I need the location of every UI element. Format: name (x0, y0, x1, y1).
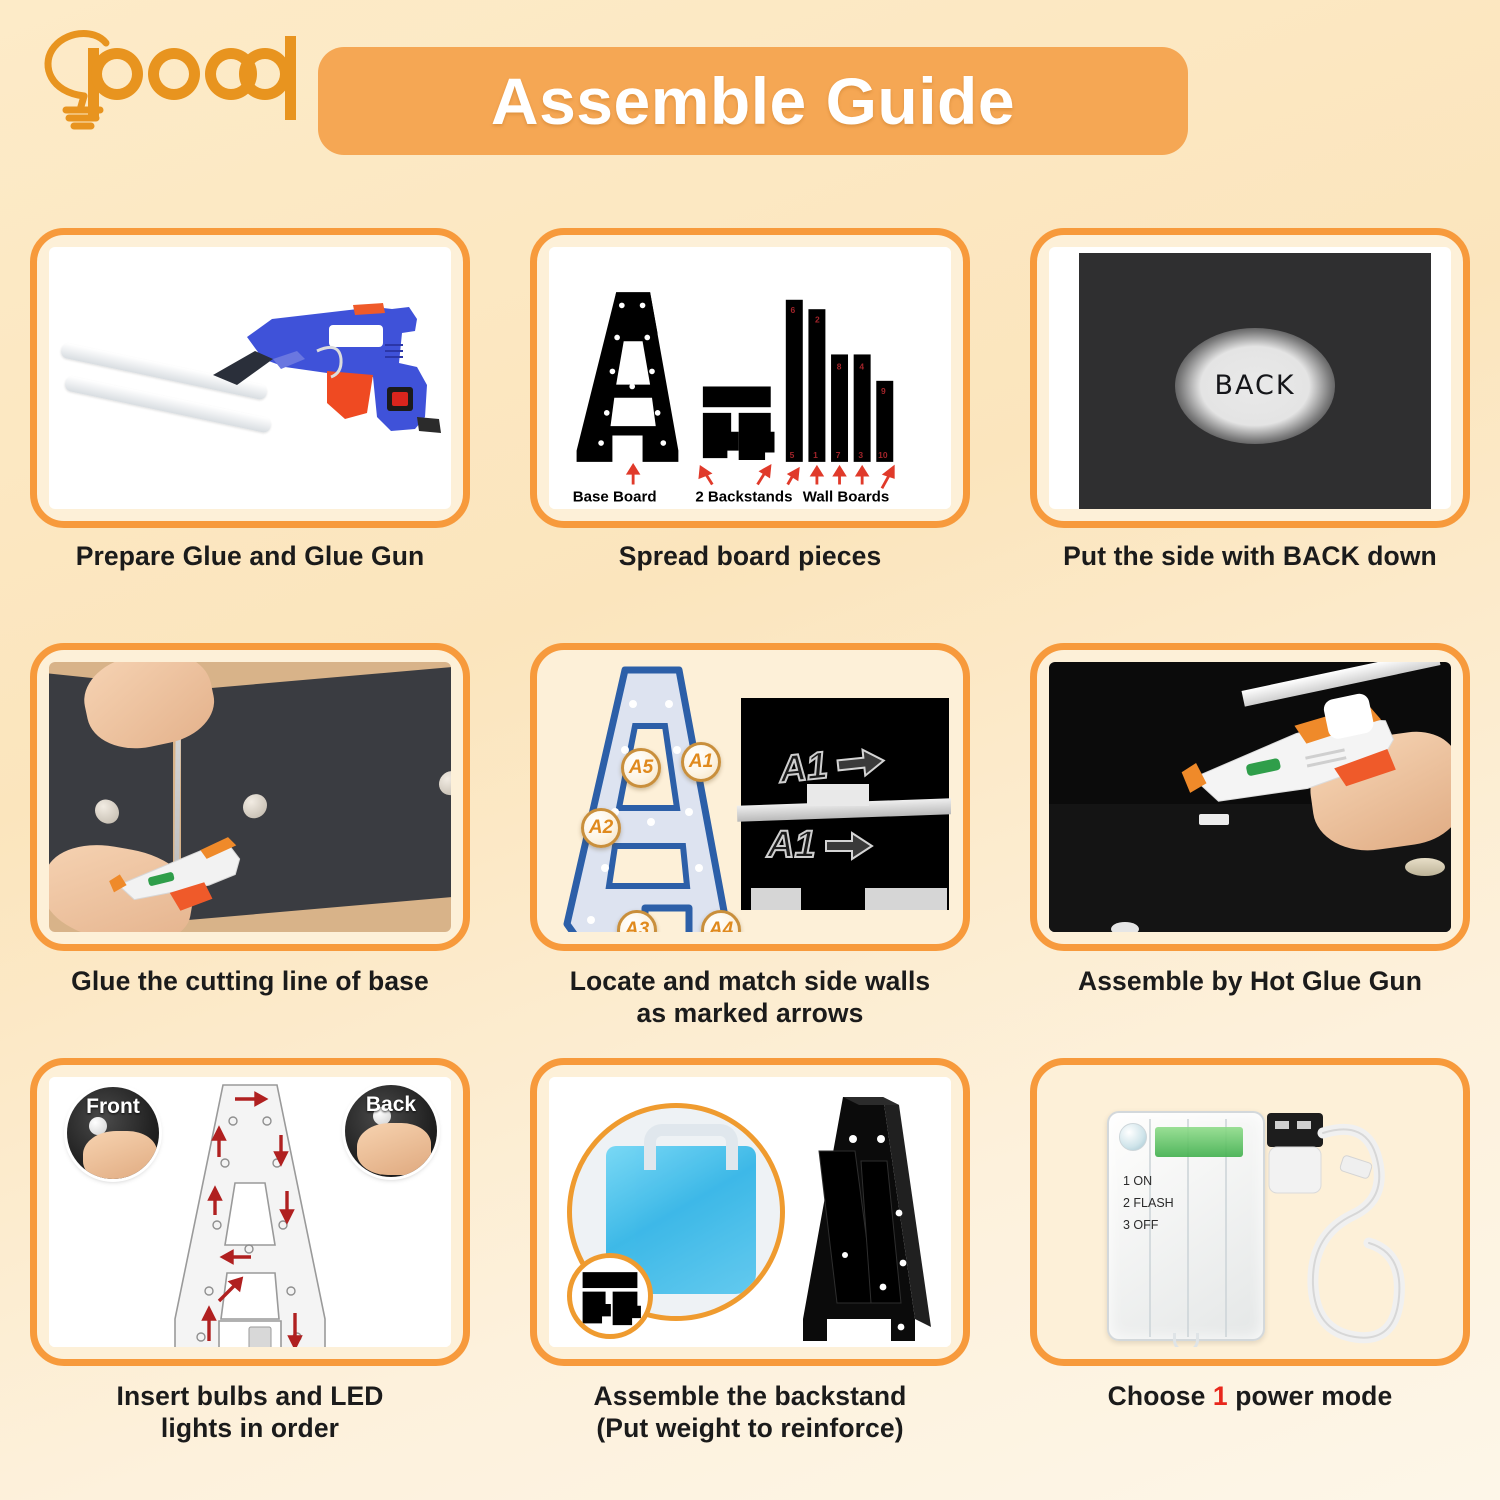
hand-icon (357, 1123, 431, 1175)
step-7-panel: Front Back (30, 1058, 470, 1366)
step-8-caption-line2: (Put weight to reinforce) (500, 1412, 1000, 1444)
step-9-caption-highlight: 1 (1213, 1381, 1228, 1411)
glue-gun-photo (49, 247, 451, 509)
inset-label-a1-top: A1 (777, 745, 830, 793)
step-card-8: Assemble the backstand (Put weight to re… (500, 1040, 1000, 1460)
step-9-caption: Choose 1 power mode (1000, 1380, 1500, 1412)
right-arrow-icon (834, 745, 887, 780)
power-mode-3: 3 OFF (1123, 1215, 1174, 1237)
step-card-1: Prepare Glue and Glue Gun (0, 210, 500, 625)
back-label: BACK (1214, 370, 1295, 401)
board-pieces-diagram: 6 2 8 4 9 5 1 7 3 10 (549, 247, 951, 509)
back-label: Back (366, 1093, 416, 1117)
right-arrow-icon (824, 831, 874, 861)
side-wall-markers-diagram: A1 A2 A3 A4 A5 A1 (549, 662, 951, 932)
magnet-icon (243, 793, 267, 819)
step-card-4: Glue the cutting line of base (0, 625, 500, 1040)
wall-board-number: 8 (837, 362, 842, 372)
wall-board-number: 1 (813, 450, 818, 460)
backstand-shapes (703, 386, 775, 460)
power-mode-1: 1 ON (1123, 1171, 1174, 1193)
step-4-panel (30, 643, 470, 951)
inset-arrow-row-bottom: A1 (767, 824, 874, 867)
step-card-2: 6 2 8 4 9 5 1 7 3 10 (500, 210, 1000, 625)
usb-cable-icon (1245, 1107, 1425, 1347)
backstand-piece-icon (572, 1258, 648, 1334)
hot-glue-assembly-photo (1049, 662, 1451, 932)
step-5-caption-line1: Locate and match side walls (570, 966, 931, 996)
wall-board-number: 9 (881, 386, 886, 396)
step-6-caption: Assemble by Hot Glue Gun (1000, 965, 1500, 997)
page-header: Assemble Guide (0, 0, 1500, 200)
step-7-caption-line1: Insert bulbs and LED (116, 1381, 383, 1411)
power-button[interactable] (1119, 1123, 1147, 1151)
step-5-caption: Locate and match side walls as marked ar… (500, 965, 1000, 1030)
hanging-loop (1173, 1333, 1199, 1347)
wall-boards-label: Wall Boards (803, 488, 889, 505)
step-card-6: Assemble by Hot Glue Gun (1000, 625, 1500, 1040)
step-2-panel: 6 2 8 4 9 5 1 7 3 10 (530, 228, 970, 528)
brand-logo (22, 18, 302, 136)
side-wall-arrow-inset: A1 A1 (741, 698, 949, 910)
step-5-caption-line2: as marked arrows (500, 997, 1000, 1029)
step-3-panel: BACK (1030, 228, 1470, 528)
front-label: Front (86, 1095, 140, 1119)
spotlight-glow: BACK (1175, 328, 1335, 444)
bulb-order-diagram: Front Back (49, 1077, 451, 1347)
steps-grid: Prepare Glue and Glue Gun (0, 210, 1500, 1495)
magnet-icon (95, 798, 119, 825)
backstand-piece-inset (567, 1253, 653, 1339)
hand-icon (83, 1131, 157, 1179)
step-card-3: BACK Put the side with BACK down (1000, 210, 1500, 625)
wall-board-number: 10 (878, 450, 888, 460)
letter-a-shape (553, 662, 743, 932)
step-4-caption: Glue the cutting line of base (0, 965, 500, 997)
marker-a1: A1 (681, 742, 721, 782)
marker-a5: A5 (621, 748, 661, 788)
power-mode-list: 1 ON 2 FLASH 3 OFF (1123, 1171, 1174, 1237)
wall-board-number: 2 (815, 314, 820, 324)
magnet-icon (439, 770, 451, 796)
back-inset-photo: Back (345, 1085, 437, 1177)
base-board-label: Base Board (573, 488, 657, 505)
pointer-arrows (628, 466, 893, 489)
wall-board-number: 4 (859, 362, 864, 372)
step-3-caption: Put the side with BACK down (1000, 540, 1500, 572)
inset-label-a1-bottom: A1 (767, 824, 816, 867)
gluing-base-photo (49, 662, 451, 932)
step-card-5: A1 A2 A3 A4 A5 A1 (500, 625, 1000, 1040)
dark-board: BACK (1079, 253, 1431, 509)
step-8-caption: Assemble the backstand (Put weight to re… (500, 1380, 1000, 1445)
battery-box: 1 ON 2 FLASH 3 OFF (1107, 1111, 1265, 1341)
wall-board-number: 5 (790, 450, 795, 460)
front-inset-photo: Front (67, 1087, 159, 1179)
step-9-panel: 1 ON 2 FLASH 3 OFF (1030, 1058, 1470, 1366)
marker-a2: A2 (581, 808, 621, 848)
wall-board-number: 7 (836, 450, 841, 460)
glue-gun-icon (177, 267, 447, 457)
assembled-backstand-3d (779, 1091, 937, 1347)
wall-foot-notch (801, 876, 865, 910)
power-mode-2: 2 FLASH (1123, 1193, 1174, 1215)
step-6-panel (1030, 643, 1470, 951)
step-card-9: 1 ON 2 FLASH 3 OFF (1000, 1040, 1500, 1460)
power-box-photo: 1 ON 2 FLASH 3 OFF (1049, 1077, 1451, 1347)
step-2-caption: Spread board pieces (500, 540, 1000, 572)
base-board-shape (577, 292, 679, 462)
wall-board-number: 3 (858, 450, 863, 460)
step-5-panel: A1 A2 A3 A4 A5 A1 (530, 643, 970, 951)
backstands-label: 2 Backstands (695, 488, 792, 505)
pcb-strip (1155, 1127, 1243, 1157)
magnet-icon (1111, 922, 1139, 932)
page-title-banner: Assemble Guide (318, 47, 1188, 155)
letter-a-outline (157, 1079, 343, 1347)
lightbulb-icon (22, 18, 302, 136)
inset-arrow-row-top: A1 (777, 739, 887, 793)
step-7-caption: Insert bulbs and LED lights in order (0, 1380, 500, 1445)
glue-chip (1199, 814, 1229, 825)
backstand-assembly-photo (549, 1077, 951, 1347)
wall-board-shapes (786, 300, 893, 462)
step-9-caption-post: power mode (1228, 1381, 1393, 1411)
back-label-photo: BACK (1049, 247, 1451, 509)
step-1-caption: Prepare Glue and Glue Gun (0, 540, 500, 572)
step-7-caption-line2: lights in order (0, 1412, 500, 1444)
step-1-panel (30, 228, 470, 528)
step-card-7: Front Back Insert bulbs and LED lights i… (0, 1040, 500, 1460)
step-8-panel (530, 1058, 970, 1366)
magnet-icon (1405, 858, 1445, 876)
step-8-caption-line1: Assemble the backstand (594, 1381, 907, 1411)
wall-board-number: 6 (791, 305, 796, 315)
step-9-caption-pre: Choose (1108, 1381, 1213, 1411)
page-title: Assemble Guide (491, 68, 1015, 134)
